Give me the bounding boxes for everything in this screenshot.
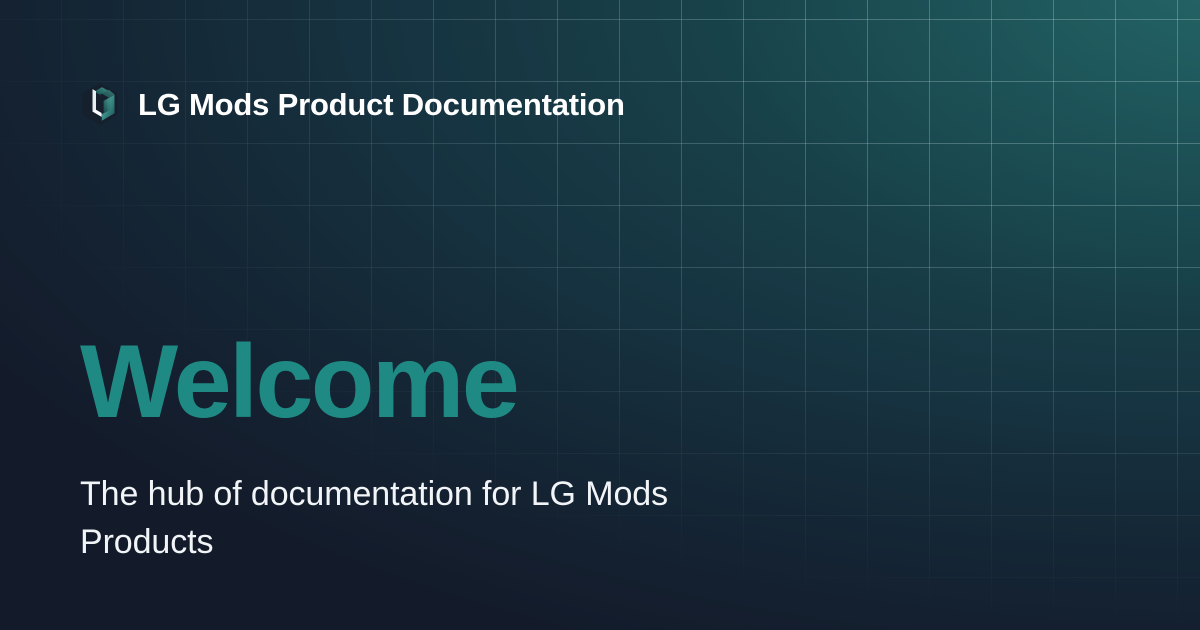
- og-banner-card: LG Mods Product Documentation Welcome Th…: [0, 0, 1200, 630]
- hero-section: Welcome The hub of documentation for LG …: [80, 330, 840, 567]
- brand-title: LG Mods Product Documentation: [138, 89, 625, 120]
- page-subtitle: The hub of documentation for LG Mods Pro…: [80, 470, 770, 567]
- card-content: LG Mods Product Documentation Welcome Th…: [0, 0, 1200, 630]
- hexagon-lg-mods-logo-icon: [80, 82, 120, 126]
- brand-lockup: LG Mods Product Documentation: [80, 81, 625, 127]
- page-title: Welcome: [80, 330, 840, 434]
